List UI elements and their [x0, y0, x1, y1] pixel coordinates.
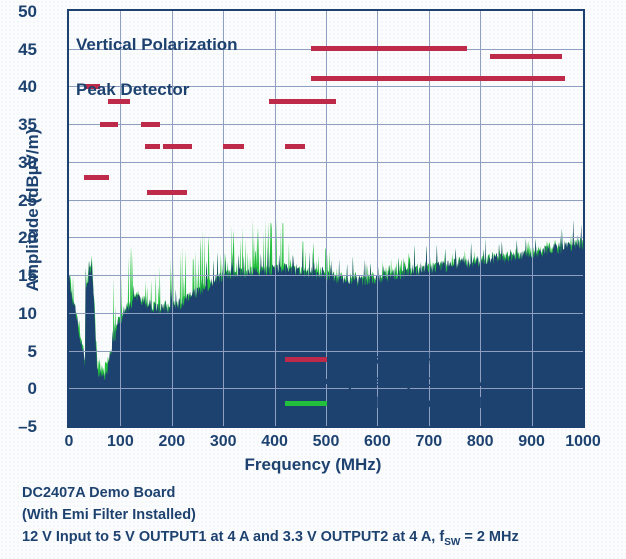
- y-tick-label: 45: [0, 41, 37, 58]
- y-tick-label: 40: [0, 78, 37, 95]
- y-tick-label: 0: [0, 380, 37, 397]
- plot-title-line1: Vertical Polarization: [76, 34, 238, 56]
- limit-segment: [311, 76, 565, 81]
- caption-line-3-pre: 12 V Input to 5 V OUTPUT1 at 4 A and 3.3…: [22, 529, 444, 545]
- caption-line-3: 12 V Input to 5 V OUTPUT1 at 4 A and 3.3…: [22, 527, 622, 550]
- y-tick-label: 5: [0, 343, 37, 360]
- y-tick-label: –5: [0, 418, 37, 435]
- chart-legend: Class 5 Peak LimitSpread Spectrum ModeFi…: [285, 349, 516, 415]
- limit-segment: [490, 54, 562, 59]
- legend-label: Class 5 Peak Limit: [337, 351, 478, 369]
- limit-segment: [269, 99, 336, 104]
- legend-item: Class 5 Peak Limit: [285, 349, 516, 370]
- caption-line-3-post: = 2 MHz: [460, 529, 518, 545]
- y-tick-label: 30: [0, 154, 37, 171]
- limit-segment: [147, 190, 187, 195]
- legend-item: Fixed Frequency Mode: [285, 393, 516, 414]
- legend-swatch: [285, 379, 327, 384]
- limit-segment: [285, 144, 306, 149]
- gridline-horizontal: [69, 237, 583, 238]
- y-tick-label: 15: [0, 267, 37, 284]
- y-tick-label: 25: [0, 192, 37, 209]
- x-tick-label: 1000: [553, 434, 613, 450]
- y-tick-label: 35: [0, 116, 37, 133]
- plot-title-line2: Peak Detector: [76, 79, 238, 101]
- gridline-horizontal: [69, 313, 583, 314]
- limit-segment: [223, 144, 244, 149]
- y-tick-label: 10: [0, 305, 37, 322]
- legend-swatch: [285, 357, 327, 362]
- plot-title: Vertical Polarization Peak Detector: [76, 12, 238, 124]
- gridline-horizontal: [69, 162, 583, 163]
- caption-line-2: (With Emi Filter Installed): [22, 505, 622, 527]
- limit-segment: [163, 144, 193, 149]
- gridline-vertical: [532, 11, 533, 426]
- legend-label: Spread Spectrum Mode: [337, 373, 516, 391]
- legend-label: Fixed Frequency Mode: [337, 395, 510, 413]
- legend-swatch: [285, 401, 327, 406]
- y-tick-label: 20: [0, 229, 37, 246]
- gridline-horizontal: [69, 200, 583, 201]
- caption-line-1: DC2407A Demo Board: [22, 483, 622, 505]
- gridline-vertical: [275, 11, 276, 426]
- x-axis-title: Frequency (MHz): [0, 455, 626, 475]
- emi-scan-chart: Amplitude (dBµV/m) –50510152025303540455…: [0, 0, 626, 559]
- limit-segment: [311, 46, 468, 51]
- legend-item: Spread Spectrum Mode: [285, 371, 516, 392]
- figure-caption: DC2407A Demo Board (With Emi Filter Inst…: [22, 483, 622, 549]
- gridline-horizontal: [69, 275, 583, 276]
- y-tick-label: 50: [0, 3, 37, 20]
- limit-segment: [145, 144, 160, 149]
- limit-segment: [84, 175, 109, 180]
- caption-line-3-sub: SW: [444, 536, 460, 547]
